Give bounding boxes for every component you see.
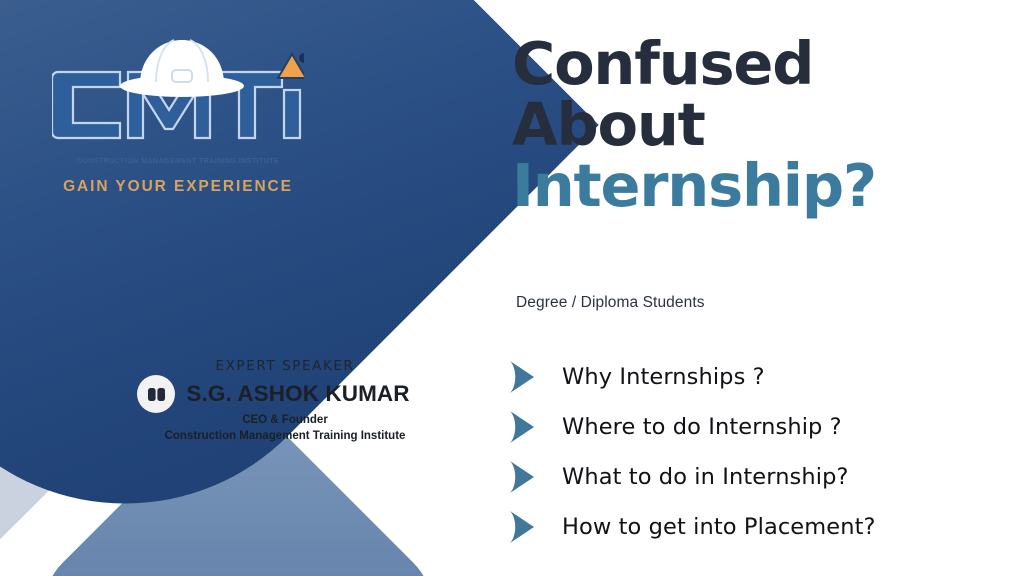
speaker-block: EXPERT SPEAKER S.G. ASHOK KUMAR CEO & Fo…: [120, 358, 450, 442]
arrow-right-icon: [508, 460, 542, 494]
list-item-label: What to do in Internship?: [542, 464, 849, 490]
arrow-right-icon: [508, 360, 542, 394]
hard-hat-icon: [120, 40, 244, 97]
topic-list: Why Internships ? Where to do Internship…: [508, 352, 1008, 552]
slide-canvas: CONSTRUCTION MANAGEMENT TRAINING INSTITU…: [0, 0, 1024, 576]
headline-line-1: Confused: [512, 34, 982, 95]
cmti-logo-subtitle: CONSTRUCTION MANAGEMENT TRAINING INSTITU…: [52, 158, 304, 165]
arrow-right-icon: [508, 410, 542, 444]
speaker-name-row: S.G. ASHOK KUMAR: [120, 381, 450, 407]
page-title: Confused About Internship?: [512, 34, 982, 216]
avatar: [137, 375, 175, 413]
cmti-logo-mark: [52, 26, 304, 144]
speaker-name: S.G. ASHOK KUMAR: [160, 381, 409, 407]
list-item-label: Why Internships ?: [542, 364, 765, 390]
list-item: Where to do Internship ?: [508, 402, 1008, 451]
quote-icon: [148, 388, 165, 401]
cmti-logo-tagline: GAIN YOUR EXPERIENCE: [52, 178, 304, 196]
speaker-organization: Construction Management Training Institu…: [120, 430, 450, 442]
headline-line-3: Internship?: [512, 156, 982, 217]
cmti-logo: CONSTRUCTION MANAGEMENT TRAINING INSTITU…: [52, 26, 304, 176]
subtitle: Degree / Diploma Students: [516, 294, 705, 312]
list-item: How to get into Placement?: [508, 502, 1008, 551]
speaker-eyebrow-label: EXPERT SPEAKER: [120, 358, 450, 374]
list-item: Why Internships ?: [508, 352, 1008, 401]
speaker-role: CEO & Founder: [120, 414, 450, 426]
list-item-label: Where to do Internship ?: [542, 414, 842, 440]
headline-line-2: About: [512, 95, 982, 156]
arrow-right-icon: [508, 510, 542, 544]
list-item: What to do in Internship?: [508, 452, 1008, 501]
list-item-label: How to get into Placement?: [542, 514, 876, 540]
